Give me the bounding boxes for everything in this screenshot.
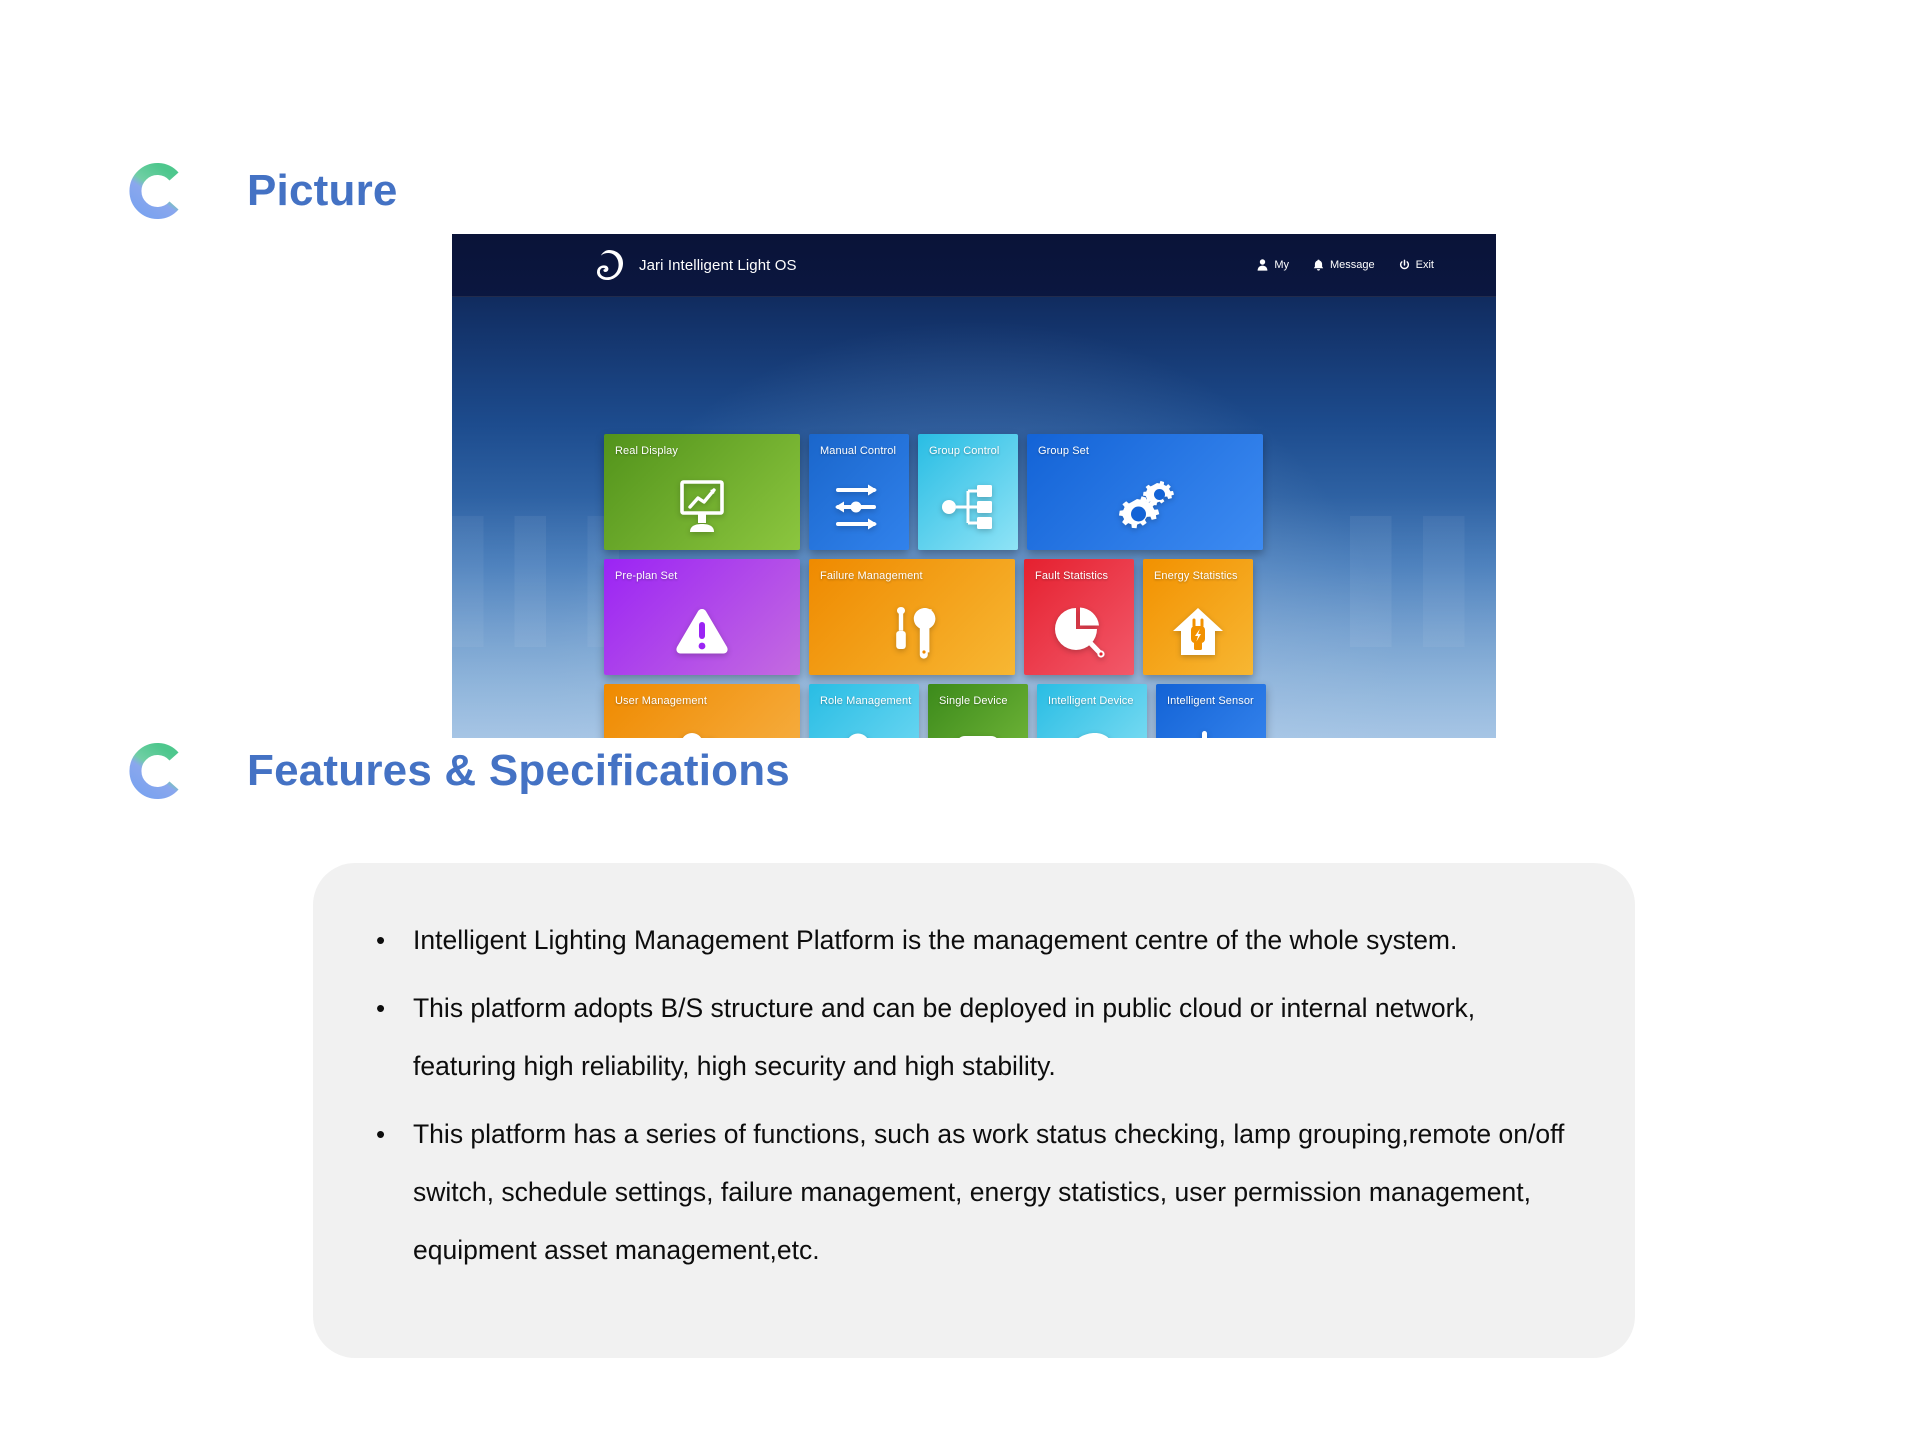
user-gear-icon (809, 722, 919, 738)
tile-manual-control[interactable]: Manual Control (809, 434, 909, 550)
tile-label: Intelligent Sensor (1167, 695, 1254, 707)
tile-failure-management[interactable]: Failure Management (809, 559, 1015, 675)
tile-intelligent-sensor[interactable]: Intelligent Sensor (1156, 684, 1266, 738)
topnav-exit-label: Exit (1416, 259, 1434, 271)
toggles-icon (928, 722, 1028, 738)
topnav-message[interactable]: Message (1313, 259, 1375, 271)
tile-single-device[interactable]: Single Device (928, 684, 1028, 738)
tile-pre-plan-set[interactable]: Pre-plan Set (604, 559, 800, 675)
tile-energy-statistics[interactable]: Energy Statistics (1143, 559, 1253, 675)
tile-label: Group Set (1038, 445, 1089, 457)
tile-label: Role Management (820, 695, 911, 707)
picture-section-heading: Picture (125, 160, 398, 222)
tile-label: Pre-plan Set (615, 570, 677, 582)
warning-triangle-icon (604, 597, 800, 667)
list-item: This platform has a series of functions,… (343, 1105, 1579, 1279)
list-item: Intelligent Lighting Management Platform… (343, 911, 1579, 969)
sitemap-icon (918, 472, 1018, 542)
page-title: Picture (247, 166, 398, 216)
brain-network-icon (1037, 722, 1147, 738)
dashboard-screenshot: Jari Intelligent Light OS My Message Exi… (452, 234, 1496, 738)
tile-user-management[interactable]: User Management (604, 684, 800, 738)
gears-icon (1027, 472, 1263, 542)
monitor-chart-icon (604, 472, 800, 542)
topnav-my-label: My (1274, 259, 1289, 271)
tile-group-set[interactable]: Group Set (1027, 434, 1263, 550)
c-arc-logo-icon (125, 160, 187, 222)
tile-label: Fault Statistics (1035, 570, 1108, 582)
app-brand: Jari Intelligent Light OS (594, 249, 797, 281)
tile-label: Intelligent Device (1048, 695, 1134, 707)
c-arc-logo-icon (125, 740, 187, 802)
tile-intelligent-device[interactable]: Intelligent Device (1037, 684, 1147, 738)
tools-icon (809, 597, 1015, 667)
tile-label: Single Device (939, 695, 1008, 707)
tile-row: User Management Role Management (604, 684, 1332, 738)
app-brand-name: Jari Intelligent Light OS (639, 257, 797, 274)
bell-icon (1313, 259, 1324, 271)
features-title: Features & Specifications (247, 746, 790, 796)
sensor-wave-icon (1156, 722, 1266, 738)
list-item: This platform adopts B/S structure and c… (343, 979, 1579, 1095)
user-icon (1257, 259, 1268, 271)
tile-label: Manual Control (820, 445, 896, 457)
tile-label: Group Control (929, 445, 999, 457)
tile-row: Pre-plan Set Failure Management (604, 559, 1332, 675)
power-icon (1399, 259, 1410, 271)
tile-label: Failure Management (820, 570, 923, 582)
house-plug-icon (1143, 597, 1253, 667)
tile-row: Real Display Manual Control (604, 434, 1332, 550)
tile-grid: Real Display Manual Control (604, 434, 1332, 738)
topbar-nav: My Message Exit (1257, 259, 1434, 271)
jari-swirl-logo-icon (594, 249, 624, 281)
topnav-message-label: Message (1330, 259, 1375, 271)
tile-fault-statistics[interactable]: Fault Statistics (1024, 559, 1134, 675)
features-bullet-list: Intelligent Lighting Management Platform… (343, 911, 1579, 1289)
tile-label: Energy Statistics (1154, 570, 1238, 582)
tile-real-display[interactable]: Real Display (604, 434, 800, 550)
tile-label: Real Display (615, 445, 678, 457)
features-section-heading: Features & Specifications (125, 740, 790, 802)
features-panel: Intelligent Lighting Management Platform… (313, 863, 1635, 1358)
topnav-my[interactable]: My (1257, 259, 1289, 271)
tile-role-management[interactable]: Role Management (809, 684, 919, 738)
sliders-icon (809, 472, 909, 542)
pie-search-icon (1024, 597, 1134, 667)
app-topbar: Jari Intelligent Light OS My Message Exi… (452, 234, 1496, 297)
tile-group-control[interactable]: Group Control (918, 434, 1018, 550)
users-icon (604, 722, 800, 738)
topnav-exit[interactable]: Exit (1399, 259, 1434, 271)
tile-label: User Management (615, 695, 707, 707)
